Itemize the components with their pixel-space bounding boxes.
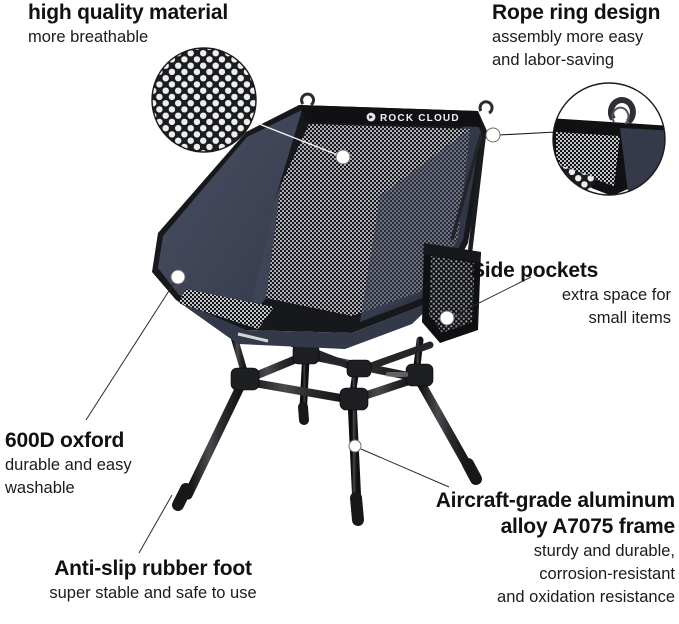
callout-title1-aircraft-alloy: Aircraft-grade aluminum: [389, 488, 675, 514]
callout-sub1-600d-oxford: durable and easy: [5, 454, 132, 477]
callout-sub-high-quality-material: more breathable: [28, 26, 228, 49]
callout-aircraft-grade-aluminum: Aircraft-grade aluminum alloy A7075 fram…: [389, 488, 675, 609]
callout-high-quality-material: high quality material more breathable: [28, 0, 228, 49]
callout-title2-aircraft-alloy: alloy A7075 frame: [389, 514, 675, 540]
svg-text:ROCK CLOUD: ROCK CLOUD: [380, 113, 460, 124]
callout-sub2-rope-ring: and labor-saving: [492, 49, 660, 72]
callout-sub1-anti-slip-foot: super stable and safe to use: [28, 582, 278, 605]
callout-title-600d-oxford: 600D oxford: [5, 428, 132, 454]
marker-rope-ring: [486, 128, 500, 142]
callout-sub2-600d-oxford: washable: [5, 477, 132, 500]
camping-chair-graphic: ROCK CLOUD: [152, 94, 492, 520]
callout-sub2-aircraft-alloy: corrosion-resistant: [389, 563, 675, 586]
callout-sub1-aircraft-alloy: sturdy and durable,: [389, 540, 675, 563]
leader-anti-slip-foot: [139, 495, 172, 553]
callout-anti-slip-rubber-foot: Anti-slip rubber foot super stable and s…: [28, 556, 278, 605]
leader-aircraft-alloy: [361, 449, 449, 487]
callout-sub2-side-pockets: small items: [471, 307, 671, 330]
corner-loop-right: [480, 102, 492, 113]
callout-title-anti-slip-foot: Anti-slip rubber foot: [28, 556, 278, 582]
callout-title-high-quality-material: high quality material: [28, 0, 228, 26]
leader-rope-ring: [499, 132, 556, 135]
detail-circle-mesh: [152, 48, 256, 152]
callout-title-side-pockets: Side pockets: [471, 258, 671, 284]
infographic-canvas: ROCK CLOUD: [0, 0, 679, 624]
callout-rope-ring-design: Rope ring design assembly more easy and …: [492, 0, 660, 72]
marker-oxford-fabric: [171, 270, 185, 284]
detail-circle-rope-ring: [540, 83, 678, 200]
marker-mesh-backrest: [336, 150, 350, 164]
corner-loop-left: [302, 94, 314, 105]
callout-sub1-side-pockets: extra space for: [471, 284, 671, 307]
callout-title-rope-ring: Rope ring design: [492, 0, 660, 26]
callout-side-pockets: Side pockets extra space for small items: [471, 258, 671, 330]
marker-alloy-leg: [349, 440, 361, 452]
brand-logo: ROCK CLOUD: [367, 113, 460, 124]
callout-sub3-aircraft-alloy: and oxidation resistance: [389, 586, 675, 609]
marker-side-pocket: [440, 311, 454, 325]
leader-600d-oxford: [86, 283, 174, 420]
callout-600d-oxford: 600D oxford durable and easy washable: [5, 428, 132, 500]
callout-sub1-rope-ring: assembly more easy: [492, 26, 660, 49]
